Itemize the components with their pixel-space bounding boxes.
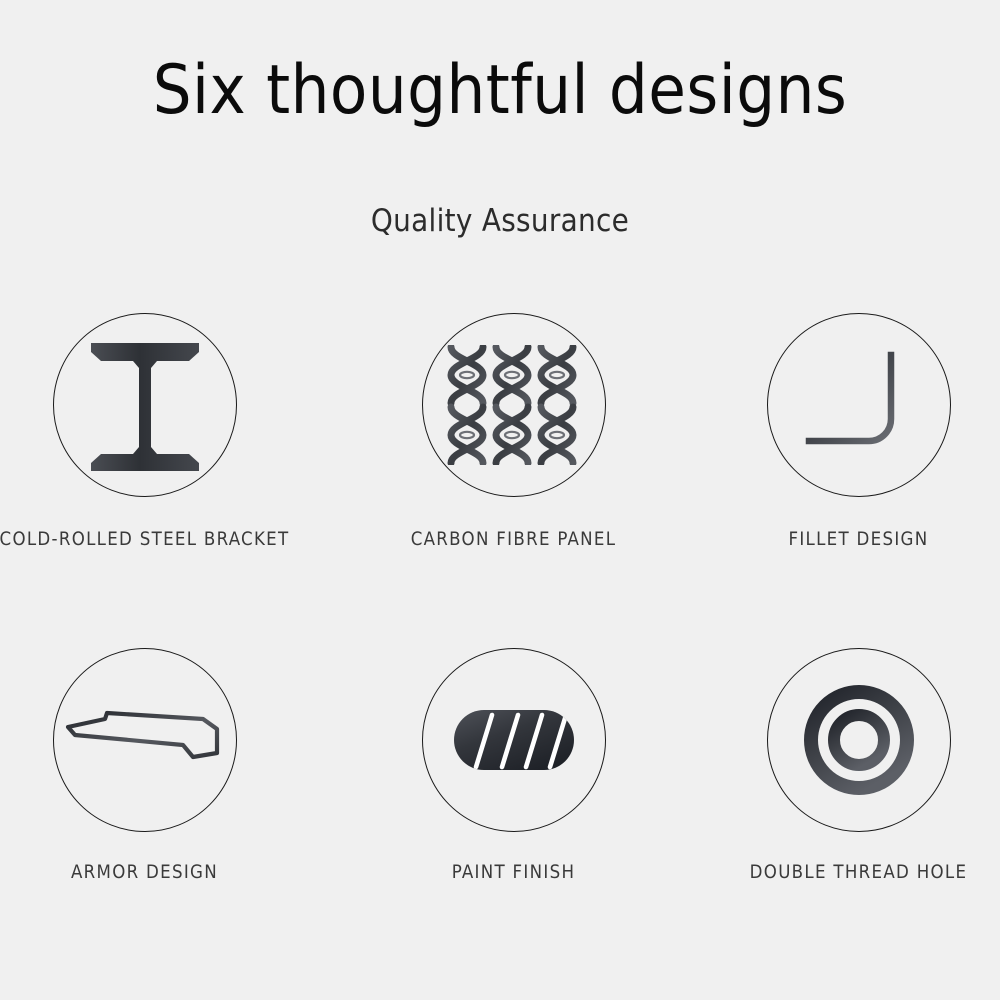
feature-label: DOUBLE THREAD HOLE: [692, 862, 1000, 883]
page-subtitle: Quality Assurance: [0, 203, 1000, 239]
feature-icon-circle: [767, 313, 951, 497]
feature-icon-circle: [422, 648, 606, 832]
feature-label: PAINT FINISH: [347, 862, 680, 883]
i-beam-icon: [85, 335, 205, 475]
feature-icon-circle: [422, 313, 606, 497]
feature-label: FILLET DESIGN: [692, 529, 1000, 550]
armor-plate-icon: [65, 705, 225, 775]
paint-pill-icon: [452, 705, 576, 775]
feature-item-armor-design[interactable]: ARMOR DESIGN: [0, 635, 311, 883]
feature-label: COLD-ROLLED STEEL BRACKET: [0, 529, 311, 550]
rounded-corner-icon: [799, 345, 919, 465]
feature-item-cold-rolled-steel-bracket[interactable]: COLD-ROLLED STEEL BRACKET: [0, 300, 311, 550]
feature-grid: COLD-ROLLED STEEL BRACKET: [0, 300, 1000, 960]
feature-item-fillet-design[interactable]: FILLET DESIGN: [692, 300, 1000, 550]
feature-label: ARMOR DESIGN: [0, 862, 311, 883]
feature-icon-circle: [767, 648, 951, 832]
page-title: Six thoughtful designs: [0, 55, 1000, 126]
feature-item-double-thread-hole[interactable]: DOUBLE THREAD HOLE: [692, 635, 1000, 883]
feature-icon-circle: [53, 648, 237, 832]
feature-label: CARBON FIBRE PANEL: [347, 529, 680, 550]
concentric-rings-icon: [797, 678, 921, 802]
carbon-weave-icon: [447, 345, 581, 465]
feature-item-carbon-fibre-panel[interactable]: CARBON FIBRE PANEL: [347, 300, 680, 550]
feature-highlight-page: Six thoughtful designs Quality Assurance: [0, 0, 1000, 1000]
feature-icon-circle: [53, 313, 237, 497]
feature-item-paint-finish[interactable]: PAINT FINISH: [347, 635, 680, 883]
